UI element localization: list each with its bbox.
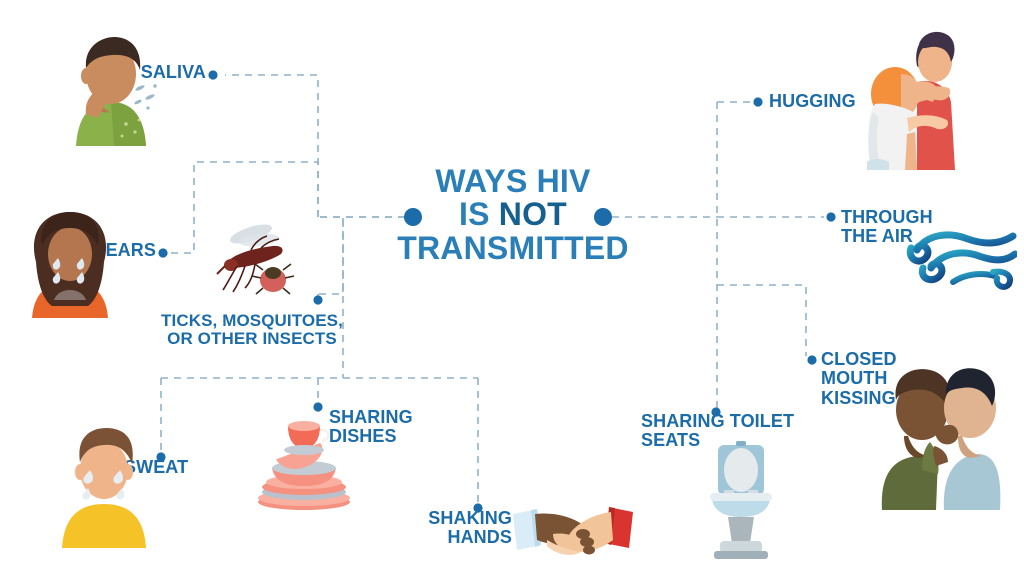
wind-wave-icon xyxy=(905,228,1017,290)
mosquito-tick-icon xyxy=(215,218,305,308)
hugging-couple-icon xyxy=(855,22,975,170)
label-insects: TICKS, MOSQUITOES, OR OTHER INSECTS xyxy=(152,312,352,349)
handshake-icon xyxy=(513,500,633,562)
coughing-person-icon xyxy=(56,28,166,146)
page-title: WAYS HIV IS NOT TRANSMITTED xyxy=(388,165,638,265)
toilet-icon xyxy=(700,435,780,563)
title-is: IS xyxy=(459,196,499,232)
crying-woman-icon xyxy=(18,206,122,318)
stacked-dishes-icon xyxy=(250,410,358,510)
title-not: NOT xyxy=(499,196,567,232)
label-shaking-hands: SHAKING HANDS xyxy=(396,509,512,548)
infographic-canvas: WAYS HIV IS NOT TRANSMITTED SALIVA TEARS… xyxy=(0,0,1024,575)
title-line-3: TRANSMITTED xyxy=(388,232,638,265)
title-line-1: WAYS HIV xyxy=(388,165,638,198)
sweating-person-icon xyxy=(54,418,154,548)
kissing-couple-icon xyxy=(878,362,1002,510)
title-line-2: IS NOT xyxy=(388,198,638,231)
